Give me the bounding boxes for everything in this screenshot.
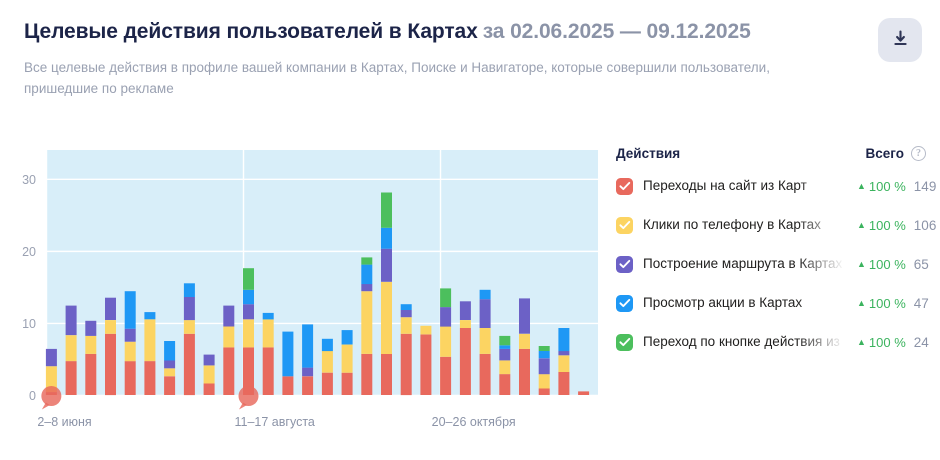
legend-label: Переход по кнопке действия из Карт xyxy=(643,334,855,349)
bar-segment[interactable] xyxy=(46,349,57,366)
bar-segment[interactable] xyxy=(263,313,274,320)
bar-segment[interactable] xyxy=(401,304,412,310)
bar-segment[interactable] xyxy=(381,193,392,228)
legend-delta: ▲100 % xyxy=(857,296,906,311)
bar-segment[interactable] xyxy=(302,376,313,395)
bar-segment[interactable] xyxy=(499,374,510,395)
legend-label: Переходы на сайт из Карт xyxy=(643,178,807,193)
bar-segment[interactable] xyxy=(401,334,412,395)
bar-segment[interactable] xyxy=(302,368,313,377)
bar-segment[interactable] xyxy=(519,334,530,349)
bar-segment[interactable] xyxy=(460,320,471,328)
bar-segment[interactable] xyxy=(322,373,333,395)
chart-legend: Действия Всего ? Переходы на сайт из Кар… xyxy=(616,142,926,353)
bar-segment[interactable] xyxy=(204,355,215,366)
legend-checkbox-1[interactable] xyxy=(616,178,633,195)
bar-segment[interactable] xyxy=(125,329,136,342)
trend-up-icon: ▲ xyxy=(857,182,866,191)
bar-segment[interactable] xyxy=(539,351,550,358)
bar-segment[interactable] xyxy=(302,324,313,367)
bar-segment[interactable] xyxy=(440,307,451,327)
legend-label-fade xyxy=(797,293,855,313)
bar-segment[interactable] xyxy=(519,349,530,395)
period-marker[interactable] xyxy=(239,386,259,410)
legend-delta-value: 100 % xyxy=(869,296,906,311)
legend-checkbox-3[interactable] xyxy=(616,256,633,273)
bar-segment[interactable] xyxy=(125,342,136,362)
legend-row-list: Переходы на сайт из Карт▲100 %149Клики п… xyxy=(616,175,926,353)
bar-segment[interactable] xyxy=(85,336,96,354)
download-icon xyxy=(892,30,909,50)
bar-segment[interactable] xyxy=(539,358,550,374)
bar-segment[interactable] xyxy=(184,320,195,334)
stacked-bar-chart: 01020302–8 июня11–17 августа20–26 октябр… xyxy=(0,140,620,450)
bar-segment[interactable] xyxy=(105,298,116,320)
bar-segment[interactable] xyxy=(361,265,372,285)
legend-total-value: 47 xyxy=(914,296,929,311)
bar-segment[interactable] xyxy=(499,336,510,345)
y-axis-labels: 0102030 xyxy=(22,173,36,403)
bar-segment[interactable] xyxy=(499,349,510,361)
bar-segment[interactable] xyxy=(66,361,77,395)
bar-segment[interactable] xyxy=(105,334,116,395)
legend-row[interactable]: Построение маршрута в Картах и Навигатор… xyxy=(616,253,926,275)
bar-segment[interactable] xyxy=(440,357,451,395)
bar-segment[interactable] xyxy=(420,326,431,335)
bar-segment[interactable] xyxy=(282,332,293,377)
bar-segment[interactable] xyxy=(342,345,353,373)
bar-segment[interactable] xyxy=(85,321,96,336)
bar-segment[interactable] xyxy=(440,288,451,307)
bar-segment[interactable] xyxy=(144,312,155,319)
trend-up-icon: ▲ xyxy=(857,299,866,308)
y-axis-tick-label: 30 xyxy=(22,173,36,187)
x-axis-tick-label: 20–26 октября xyxy=(432,415,516,429)
bar-segment[interactable] xyxy=(85,354,96,395)
legend-label-wrap: Просмотр акции в Картах xyxy=(643,293,855,313)
bar-segment[interactable] xyxy=(322,351,333,373)
y-axis-tick-label: 0 xyxy=(29,389,36,403)
bar-segment[interactable] xyxy=(361,284,372,291)
page-title-main: Целевые действия пользователей в Картах xyxy=(24,20,478,43)
bar-segment[interactable] xyxy=(578,391,589,395)
bar-segment[interactable] xyxy=(263,319,274,347)
bar-segment[interactable] xyxy=(381,228,392,249)
bar-segment[interactable] xyxy=(440,327,451,357)
bar-segment[interactable] xyxy=(125,291,136,329)
legend-total-value: 24 xyxy=(914,335,929,350)
bar-segment[interactable] xyxy=(539,346,550,351)
legend-col-actions: Действия xyxy=(616,146,866,161)
bar-segment[interactable] xyxy=(558,355,569,372)
legend-total-value: 149 xyxy=(914,179,937,194)
legend-label-wrap: Переходы на сайт из Карт xyxy=(643,176,855,196)
bar-segment[interactable] xyxy=(519,298,530,333)
download-button[interactable] xyxy=(878,18,922,62)
question-circle-icon[interactable]: ? xyxy=(911,146,926,161)
legend-label: Просмотр акции в Картах xyxy=(643,295,802,310)
bar-segment[interactable] xyxy=(144,361,155,395)
legend-checkbox-2[interactable] xyxy=(616,217,633,234)
bar-segment[interactable] xyxy=(204,384,215,396)
bar-segment[interactable] xyxy=(558,328,569,351)
page-title-period: за 02.06.2025 — 09.12.2025 xyxy=(483,20,751,43)
legend-checkbox-4[interactable] xyxy=(616,295,633,312)
page-subtitle: Все целевые действия в профиле вашей ком… xyxy=(24,57,814,99)
bar-segment[interactable] xyxy=(243,268,254,290)
legend-row[interactable]: Клики по телефону в Картах▲100 %106 xyxy=(616,214,926,236)
bar-segment[interactable] xyxy=(164,341,175,361)
legend-label-wrap: Построение маршрута в Картах и Навигатор… xyxy=(643,254,855,274)
legend-delta-value: 100 % xyxy=(869,179,906,194)
bar-segment[interactable] xyxy=(144,319,155,361)
legend-label: Клики по телефону в Картах xyxy=(643,217,821,232)
legend-delta: ▲100 % xyxy=(857,179,906,194)
legend-delta: ▲100 % xyxy=(857,335,906,350)
bar-segment[interactable] xyxy=(184,334,195,395)
x-axis-labels: 2–8 июня11–17 августа20–26 октября xyxy=(37,415,515,429)
chart-container: 01020302–8 июня11–17 августа20–26 октябр… xyxy=(0,140,620,450)
bar-segment[interactable] xyxy=(401,317,412,334)
bar-segment[interactable] xyxy=(480,354,491,395)
marker-bubble xyxy=(41,386,61,406)
legend-label: Построение маршрута в Картах и Навигатор… xyxy=(643,256,855,271)
bar-segment[interactable] xyxy=(66,306,77,336)
bar-segment[interactable] xyxy=(263,347,274,395)
legend-col-total: Всего xyxy=(866,146,904,161)
x-axis-tick-label: 11–17 августа xyxy=(235,415,315,429)
legend-delta-value: 100 % xyxy=(869,218,906,233)
bar-segment[interactable] xyxy=(164,360,175,368)
bar-segment[interactable] xyxy=(401,310,412,317)
page-header: Целевые действия пользователей в Картахз… xyxy=(24,18,854,99)
bar-segment[interactable] xyxy=(480,290,491,299)
bar-segment[interactable] xyxy=(204,366,215,384)
bar-segment[interactable] xyxy=(66,335,77,361)
legend-header: Действия Всего ? xyxy=(616,142,926,164)
bar-segment[interactable] xyxy=(223,327,234,348)
bar-segment[interactable] xyxy=(499,345,510,349)
bar-segment[interactable] xyxy=(499,360,510,374)
legend-delta-value: 100 % xyxy=(869,257,906,272)
legend-row[interactable]: Переход по кнопке действия из Карт▲100 %… xyxy=(616,331,926,353)
legend-checkbox-5[interactable] xyxy=(616,334,633,351)
bar-segment[interactable] xyxy=(322,339,333,351)
legend-total-value: 65 xyxy=(914,257,929,272)
bar-segment[interactable] xyxy=(243,290,254,304)
bar-segment[interactable] xyxy=(361,291,372,354)
y-axis-tick-label: 20 xyxy=(22,245,36,259)
bar-segment[interactable] xyxy=(381,354,392,395)
bar-segment[interactable] xyxy=(420,335,431,396)
legend-label-wrap: Клики по телефону в Картах xyxy=(643,215,855,235)
marker-bubble xyxy=(239,386,259,406)
legend-delta: ▲100 % xyxy=(857,257,906,272)
page-title: Целевые действия пользователей в Картахз… xyxy=(24,18,854,46)
bar-segment[interactable] xyxy=(243,304,254,319)
bar-segment[interactable] xyxy=(243,319,254,347)
bar-segment[interactable] xyxy=(381,282,392,354)
bar-segment[interactable] xyxy=(125,361,136,395)
bar-segment[interactable] xyxy=(164,376,175,395)
bar-segment[interactable] xyxy=(105,320,116,334)
y-axis-tick-label: 10 xyxy=(22,317,36,331)
trend-up-icon: ▲ xyxy=(857,221,866,230)
legend-total-value: 106 xyxy=(914,218,937,233)
bar-segment[interactable] xyxy=(223,306,234,327)
bar-segment[interactable] xyxy=(282,376,293,395)
bar-segment[interactable] xyxy=(164,368,175,376)
trend-up-icon: ▲ xyxy=(857,260,866,269)
bar-segment[interactable] xyxy=(381,249,392,282)
bar-segment[interactable] xyxy=(184,297,195,320)
legend-delta: ▲100 % xyxy=(857,218,906,233)
bar-segment[interactable] xyxy=(342,373,353,395)
bar-segment[interactable] xyxy=(539,389,550,396)
bar-segment[interactable] xyxy=(460,301,471,320)
x-axis-tick-label: 2–8 июня xyxy=(37,415,91,429)
bar-segment[interactable] xyxy=(361,257,372,264)
legend-row[interactable]: Переходы на сайт из Карт▲100 %149 xyxy=(616,175,926,197)
bar-segment[interactable] xyxy=(361,354,372,395)
bar-segment[interactable] xyxy=(460,328,471,395)
trend-up-icon: ▲ xyxy=(857,338,866,347)
bar-segment[interactable] xyxy=(184,283,195,297)
bar-segment[interactable] xyxy=(539,374,550,388)
bar-segment[interactable] xyxy=(223,347,234,395)
period-marker[interactable] xyxy=(41,386,61,410)
legend-row[interactable]: Просмотр акции в Картах▲100 %47 xyxy=(616,292,926,314)
bar-segment[interactable] xyxy=(558,372,569,395)
legend-label-wrap: Переход по кнопке действия из Карт xyxy=(643,332,855,352)
bar-segment[interactable] xyxy=(480,299,491,328)
bar-segment[interactable] xyxy=(480,328,491,354)
bar-segment[interactable] xyxy=(342,330,353,344)
legend-delta-value: 100 % xyxy=(869,335,906,350)
bar-segment[interactable] xyxy=(558,351,569,355)
